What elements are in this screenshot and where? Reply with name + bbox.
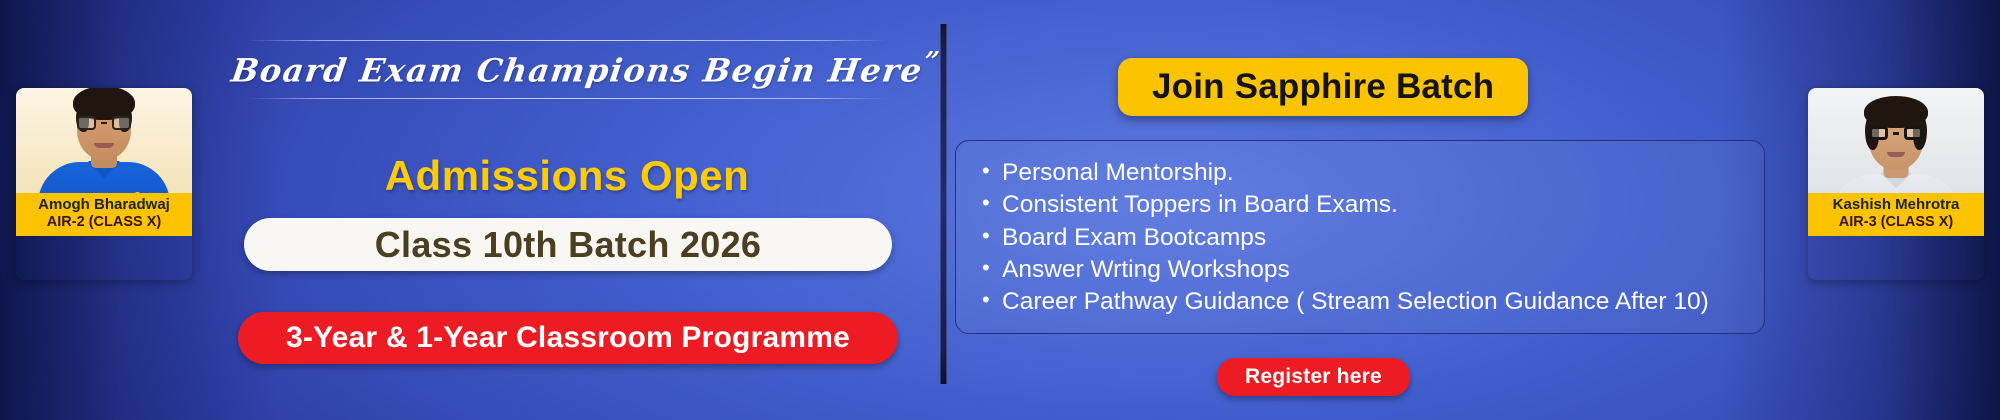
student-rank: AIR-2 (CLASS X) [18,214,190,230]
class-batch-pill: Class 10th Batch 2026 [244,218,892,271]
class-batch-label: Class 10th Batch 2026 [375,224,762,266]
join-sapphire-batch-button[interactable]: Join Sapphire Batch [1118,58,1528,116]
headline-rule-bottom [247,98,887,99]
student-photo-amogh: SMART ACHIEVERS Amogh Bharadwaj AIR-2 (C… [16,88,192,236]
script-headline-text: Board Exam Champions Begin Here [229,52,925,90]
list-item: Career Pathway Guidance ( Stream Selecti… [980,286,1742,318]
vertical-divider [940,24,947,384]
list-item: Consistent Toppers in Board Exams. [980,189,1742,221]
admissions-open-title: Admissions Open [222,152,912,200]
headline-block: Board Exam Champions Begin Here” [232,40,902,99]
left-content-column: Board Exam Champions Begin Here” Admissi… [222,0,912,420]
programme-pill: 3-Year & 1-Year Classroom Programme [238,312,898,364]
script-headline: Board Exam Champions Begin Here” [229,47,905,90]
programme-label: 3-Year & 1-Year Classroom Programme [286,321,850,355]
student-name: Kashish Mehrotra [1810,197,1982,214]
list-item: Board Exam Bootcamps [980,222,1742,254]
register-here-label: Register here [1245,365,1382,388]
register-here-button[interactable]: Register here [1217,358,1410,396]
student-rank: AIR-3 (CLASS X) [1810,214,1982,230]
features-box: Personal Mentorship. Consistent Toppers … [955,140,1765,334]
list-item: Answer Wrting Workshops [980,254,1742,286]
student-nameplate-left: Amogh Bharadwaj AIR-2 (CLASS X) [16,193,192,236]
list-item: Personal Mentorship. [980,157,1742,189]
headline-rule-top [247,40,887,41]
student-photo-kashish: Kashish Mehrotra AIR-3 (CLASS X) [1808,88,1984,236]
join-sapphire-batch-label: Join Sapphire Batch [1152,67,1494,106]
student-name: Amogh Bharadwaj [18,197,190,214]
promo-banner: SMART ACHIEVERS Amogh Bharadwaj AIR-2 (C… [0,0,2000,420]
student-card-left: SMART ACHIEVERS Amogh Bharadwaj AIR-2 (C… [16,88,192,280]
features-list: Personal Mentorship. Consistent Toppers … [980,157,1742,319]
right-content-column: Join Sapphire Batch Personal Mentorship.… [955,0,1775,420]
student-nameplate-right: Kashish Mehrotra AIR-3 (CLASS X) [1808,193,1984,236]
student-card-right: Kashish Mehrotra AIR-3 (CLASS X) [1808,88,1984,280]
